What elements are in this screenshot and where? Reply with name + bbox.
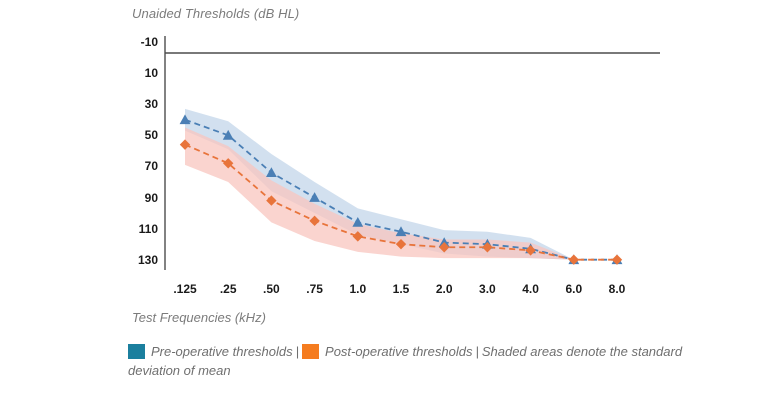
chart-page: Unaided Thresholds (dB HL) -101030507090… bbox=[0, 0, 768, 400]
legend-entry-preop: Pre-operative thresholds bbox=[128, 344, 293, 359]
sd-bands bbox=[185, 109, 617, 260]
y-axis-tick: 70 bbox=[120, 159, 158, 173]
y-axis-tick: 90 bbox=[120, 191, 158, 205]
legend-label-postop: Post-operative thresholds bbox=[325, 344, 472, 359]
x-axis-title: Test Frequencies (kHz) bbox=[132, 310, 266, 325]
chart-legend: Pre-operative thresholds|Post-operative … bbox=[128, 342, 708, 380]
legend-swatch-postop bbox=[302, 344, 319, 359]
x-axis-tick: 8.0 bbox=[587, 282, 647, 296]
y-axis-tick: 30 bbox=[120, 97, 158, 111]
legend-separator-2: | bbox=[472, 344, 481, 359]
y-axis-tick: 130 bbox=[120, 253, 158, 267]
y-axis-tick: -10 bbox=[120, 35, 158, 49]
legend-swatch-preop bbox=[128, 344, 145, 359]
legend-entry-postop: Post-operative thresholds bbox=[302, 344, 472, 359]
legend-separator-1: | bbox=[293, 344, 302, 359]
y-axis-tick: 110 bbox=[120, 222, 158, 236]
y-axis-tick: 50 bbox=[120, 128, 158, 142]
audiogram-plot bbox=[0, 0, 768, 400]
y-axis-tick: 10 bbox=[120, 66, 158, 80]
legend-label-preop: Pre-operative thresholds bbox=[151, 344, 293, 359]
